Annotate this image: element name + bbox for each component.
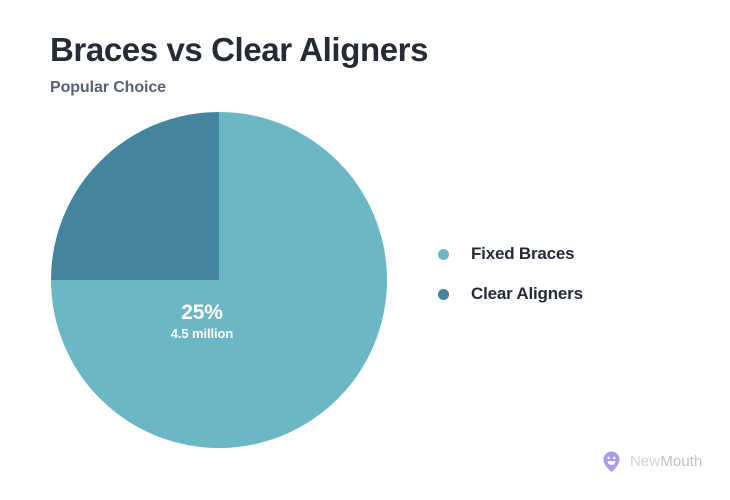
watermark-text-mouth: Mouth — [660, 453, 702, 470]
legend-item-clear-aligners[interactable]: Clear Aligners — [438, 280, 583, 308]
chart-canvas: Braces vs Clear Aligners Popular Choice … — [0, 0, 730, 500]
chart-legend: Fixed Braces Clear Aligners — [438, 240, 583, 320]
legend-item-label: Fixed Braces — [471, 244, 574, 264]
watermark-logo: NewMouth — [600, 450, 703, 473]
watermark-text-new: New — [630, 453, 660, 470]
pie-svg — [51, 112, 387, 448]
watermark-wordmark: NewMouth — [630, 453, 703, 470]
pie-chart: 25% 4.5 million 75% 1.5 million — [51, 112, 387, 448]
pie-slice-clear-aligners[interactable] — [51, 112, 219, 280]
page-title: Braces vs Clear Aligners — [50, 31, 428, 69]
chart-subtitle: Popular Choice — [50, 79, 166, 97]
legend-item-label: Clear Aligners — [471, 284, 583, 304]
map-pin-smiley-icon — [600, 450, 623, 473]
legend-color-dot-icon — [438, 249, 449, 260]
legend-item-fixed-braces[interactable]: Fixed Braces — [438, 240, 583, 268]
legend-color-dot-icon — [438, 289, 449, 300]
